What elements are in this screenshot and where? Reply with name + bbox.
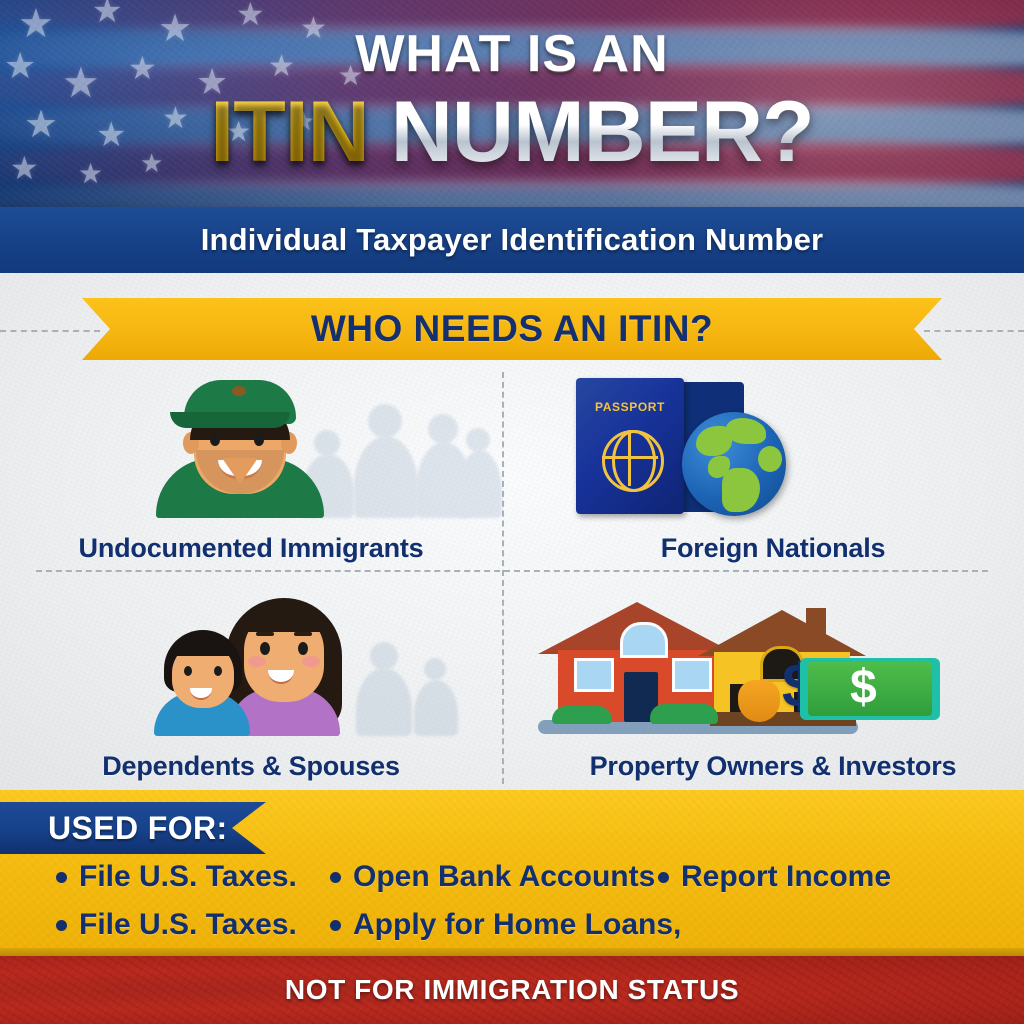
bush-right xyxy=(650,704,718,724)
used-for-section: USED FOR: File U.S. Taxes. Open Bank Acc… xyxy=(0,790,1024,956)
used-for-item-label: Apply for Home Loans, xyxy=(353,908,681,942)
passport-emblem-icon xyxy=(602,430,664,492)
bullet-dot-icon xyxy=(330,872,341,883)
used-for-item-file-taxes-2[interactable]: File U.S. Taxes. xyxy=(56,908,297,942)
family-icon xyxy=(0,588,502,736)
used-for-item-open-bank-accounts[interactable]: Open Bank Accounts xyxy=(330,860,655,894)
cell-label-dependents-spouses: Dependents & Spouses xyxy=(0,744,502,788)
person-with-cap-icon xyxy=(0,370,502,518)
bullet-dot-icon xyxy=(56,872,67,883)
footer-disclaimer-bar: NOT FOR IMMIGRATION STATUS xyxy=(0,956,1024,1024)
family-crowd-silhouettes-icon xyxy=(352,632,482,736)
cell-label-foreign-nationals: Foreign Nationals xyxy=(522,526,1024,570)
divider-dashed-top-right xyxy=(924,330,1024,332)
passport-cover-text: PASSPORT xyxy=(576,400,684,414)
infographic-page: ★ ★ ★ ★ ★ ★ ★ ★ ★ ★ ★ ★ ★ ★ ★ ★ ★ ★ ★ WH… xyxy=(0,0,1024,1024)
passport-cover: PASSPORT xyxy=(576,378,684,514)
dollar-sign-white-icon: $ xyxy=(850,664,877,712)
cell-dependents-spouses[interactable]: Dependents & Spouses xyxy=(0,588,502,788)
used-for-item-report-income[interactable]: Report Income xyxy=(658,860,891,894)
divider-dashed-vertical xyxy=(502,372,504,784)
who-needs-banner-label: WHO NEEDS AN ITIN? xyxy=(311,308,713,350)
money-bag-icon xyxy=(738,680,780,722)
used-for-item-apply-home-loans[interactable]: Apply for Home Loans, xyxy=(330,908,681,942)
header-flag-banner: ★ ★ ★ ★ ★ ★ ★ ★ ★ ★ ★ ★ ★ ★ ★ ★ ★ ★ ★ WH… xyxy=(0,0,1024,207)
used-for-row-1: File U.S. Taxes. Open Bank Accounts Repo… xyxy=(0,860,1024,908)
cell-property-owners-investors[interactable]: $ $ Property Owners & Investors xyxy=(522,588,1024,788)
used-for-item-label: File U.S. Taxes. xyxy=(79,860,297,894)
cell-label-property-owners-investors: Property Owners & Investors xyxy=(522,744,1024,788)
used-for-item-label: Report Income xyxy=(681,860,891,894)
who-needs-banner: WHO NEEDS AN ITIN? xyxy=(82,298,942,360)
earth-globe-icon xyxy=(682,412,786,516)
passport-globe-icon: PASSPORT xyxy=(522,370,1024,518)
subtitle-bar: Individual Taxpayer Identification Numbe… xyxy=(0,207,1024,273)
cell-undocumented-immigrants[interactable]: Undocumented Immigrants xyxy=(0,370,502,570)
bullet-dot-icon xyxy=(56,920,67,931)
used-for-item-file-taxes-1[interactable]: File U.S. Taxes. xyxy=(56,860,297,894)
page-title-line1: WHAT IS AN xyxy=(0,24,1024,84)
bush-left xyxy=(552,706,612,724)
divider-dashed-middle xyxy=(36,570,988,572)
bullet-dot-icon xyxy=(330,920,341,931)
subtitle-text: Individual Taxpayer Identification Numbe… xyxy=(201,222,824,258)
immigrant-avatar xyxy=(150,376,330,518)
used-for-item-label: Open Bank Accounts xyxy=(353,860,655,894)
footer-disclaimer-text: NOT FOR IMMIGRATION STATUS xyxy=(285,974,739,1006)
used-for-tab: USED FOR: xyxy=(0,802,266,854)
family-avatars xyxy=(150,594,350,736)
used-for-bullet-lists: File U.S. Taxes. Open Bank Accounts Repo… xyxy=(0,860,1024,956)
page-title-line2: ITINNUMBER? xyxy=(0,83,1024,182)
page-title-itin: ITIN xyxy=(210,84,368,180)
used-for-tab-label: USED FOR: xyxy=(48,810,228,847)
used-for-item-label: File U.S. Taxes. xyxy=(79,908,297,942)
page-title-number: NUMBER? xyxy=(391,84,814,180)
cell-label-undocumented-immigrants: Undocumented Immigrants xyxy=(0,526,502,570)
header-title-block: WHAT IS AN ITINNUMBER? xyxy=(0,0,1024,207)
bullet-dot-icon xyxy=(658,872,669,883)
cell-foreign-nationals[interactable]: PASSPORT Foreign Nationals xyxy=(522,370,1024,570)
houses-money-icon: $ $ xyxy=(522,588,1024,736)
divider-dashed-top xyxy=(0,330,100,332)
